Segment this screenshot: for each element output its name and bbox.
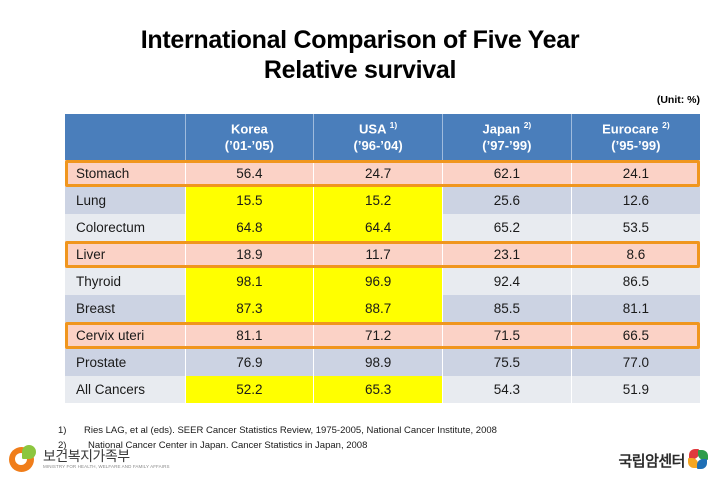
cell-usa: 71.2 [314,322,443,349]
column-header-cancer-site [65,114,185,160]
table-header: Korea (’01-’05) USA 1) (’96-’04) Japan 2… [65,114,700,160]
column-header-usa-period: (’96-’04) [314,138,442,154]
cell-usa: 96.9 [314,268,443,295]
cell-usa: 98.9 [314,349,443,376]
cell-korea: 52.2 [185,376,314,403]
cell-eurocare: 51.9 [571,376,700,403]
table-row: All Cancers52.265.354.351.9 [65,376,700,403]
column-header-japan-name: Japan [482,121,520,136]
cell-usa: 11.7 [314,241,443,268]
cell-eurocare: 66.5 [571,322,700,349]
table-row: Cervix uteri81.171.271.566.5 [65,322,700,349]
row-label-prostate: Prostate [65,349,185,376]
title-line-1: International Comparison of Five Year [141,26,580,54]
column-header-usa-sup: 1) [390,120,398,130]
column-header-korea: Korea (’01-’05) [185,114,314,160]
row-label-liver: Liver [65,241,185,268]
footnote-1: 1) Ries LAG, et al (eds). SEER Cancer St… [58,424,497,439]
cell-eurocare: 12.6 [571,187,700,214]
ministry-wordmark: 보건복지가족부 MINISTRY FOR HEALTH, WELFARE AND… [43,449,170,470]
cell-korea: 81.1 [185,322,314,349]
column-header-eurocare-name: Eurocare [602,121,658,136]
column-header-japan: Japan 2) (’97-’99) [443,114,572,160]
cell-usa: 24.7 [314,160,443,187]
row-label-thyroid: Thyroid [65,268,185,295]
cell-eurocare: 24.1 [571,160,700,187]
column-header-eurocare-sup: 2) [662,120,670,130]
cell-korea: 64.8 [185,214,314,241]
table-row: Breast87.388.785.581.1 [65,295,700,322]
cell-japan: 85.5 [443,295,572,322]
cell-korea: 98.1 [185,268,314,295]
cell-japan: 92.4 [443,268,572,295]
ministry-name-english: MINISTRY FOR HEALTH, WELFARE AND FAMILY … [43,465,170,470]
cell-japan: 75.5 [443,349,572,376]
cell-japan: 23.1 [443,241,572,268]
ministry-logo: 보건복지가족부 MINISTRY FOR HEALTH, WELFARE AND… [8,444,170,474]
survival-table-container: Korea (’01-’05) USA 1) (’96-’04) Japan 2… [65,114,700,403]
column-header-eurocare: Eurocare 2) (’95-’99) [571,114,700,160]
row-label-stomach: Stomach [65,160,185,187]
table-row: Thyroid98.196.992.486.5 [65,268,700,295]
cell-usa: 15.2 [314,187,443,214]
row-label-cervix-uteri: Cervix uteri [65,322,185,349]
column-header-korea-name: Korea [231,121,268,136]
table-row: Lung15.515.225.612.6 [65,187,700,214]
cell-usa: 64.4 [314,214,443,241]
table-row: Stomach56.424.762.124.1 [65,160,700,187]
cell-eurocare: 86.5 [571,268,700,295]
title-line-2: Relative survival [0,56,720,86]
table-header-row: Korea (’01-’05) USA 1) (’96-’04) Japan 2… [65,114,700,160]
column-header-usa-name: USA [359,121,386,136]
cell-korea: 87.3 [185,295,314,322]
footnote-1-number: 1) [58,424,84,439]
cell-usa: 65.3 [314,376,443,403]
table-body: Stomach56.424.762.124.1Lung15.515.225.61… [65,160,700,403]
ministry-name-korean: 보건복지가족부 [43,449,170,463]
cell-japan: 62.1 [443,160,572,187]
table-row: Colorectum64.864.465.253.5 [65,214,700,241]
cell-korea: 76.9 [185,349,314,376]
cell-eurocare: 53.5 [571,214,700,241]
national-cancer-center-logo: 국립암센터 [618,449,710,471]
pinwheel-blade-blue [697,459,707,469]
pinwheel-icon [688,449,710,471]
cell-japan: 71.5 [443,322,572,349]
cell-korea: 56.4 [185,160,314,187]
row-label-colorectum: Colorectum [65,214,185,241]
cell-japan: 54.3 [443,376,572,403]
cell-eurocare: 77.0 [571,349,700,376]
ncc-name-korean: 국립암센터 [618,450,685,471]
ministry-emblem-icon [8,444,38,474]
column-header-eurocare-period: (’95-’99) [572,138,700,154]
cell-eurocare: 8.6 [571,241,700,268]
survival-table: Korea (’01-’05) USA 1) (’96-’04) Japan 2… [65,114,700,403]
cell-japan: 25.6 [443,187,572,214]
footnote-1-text: Ries LAG, et al (eds). SEER Cancer Stati… [84,424,497,439]
row-label-all-cancers: All Cancers [65,376,185,403]
unit-label: (Unit: %) [0,94,720,106]
ministry-emblem-leaf [22,445,36,459]
row-label-breast: Breast [65,295,185,322]
column-header-japan-period: (’97-’99) [443,138,571,154]
column-header-usa: USA 1) (’96-’04) [314,114,443,160]
cell-eurocare: 81.1 [571,295,700,322]
column-header-korea-period: (’01-’05) [186,138,314,154]
table-row: Liver18.911.723.18.6 [65,241,700,268]
row-label-lung: Lung [65,187,185,214]
column-header-japan-sup: 2) [524,120,532,130]
cell-usa: 88.7 [314,295,443,322]
cell-korea: 18.9 [185,241,314,268]
cell-japan: 65.2 [443,214,572,241]
cell-korea: 15.5 [185,187,314,214]
table-row: Prostate76.998.975.577.0 [65,349,700,376]
page-title: International Comparison of Five Year Re… [0,0,720,85]
